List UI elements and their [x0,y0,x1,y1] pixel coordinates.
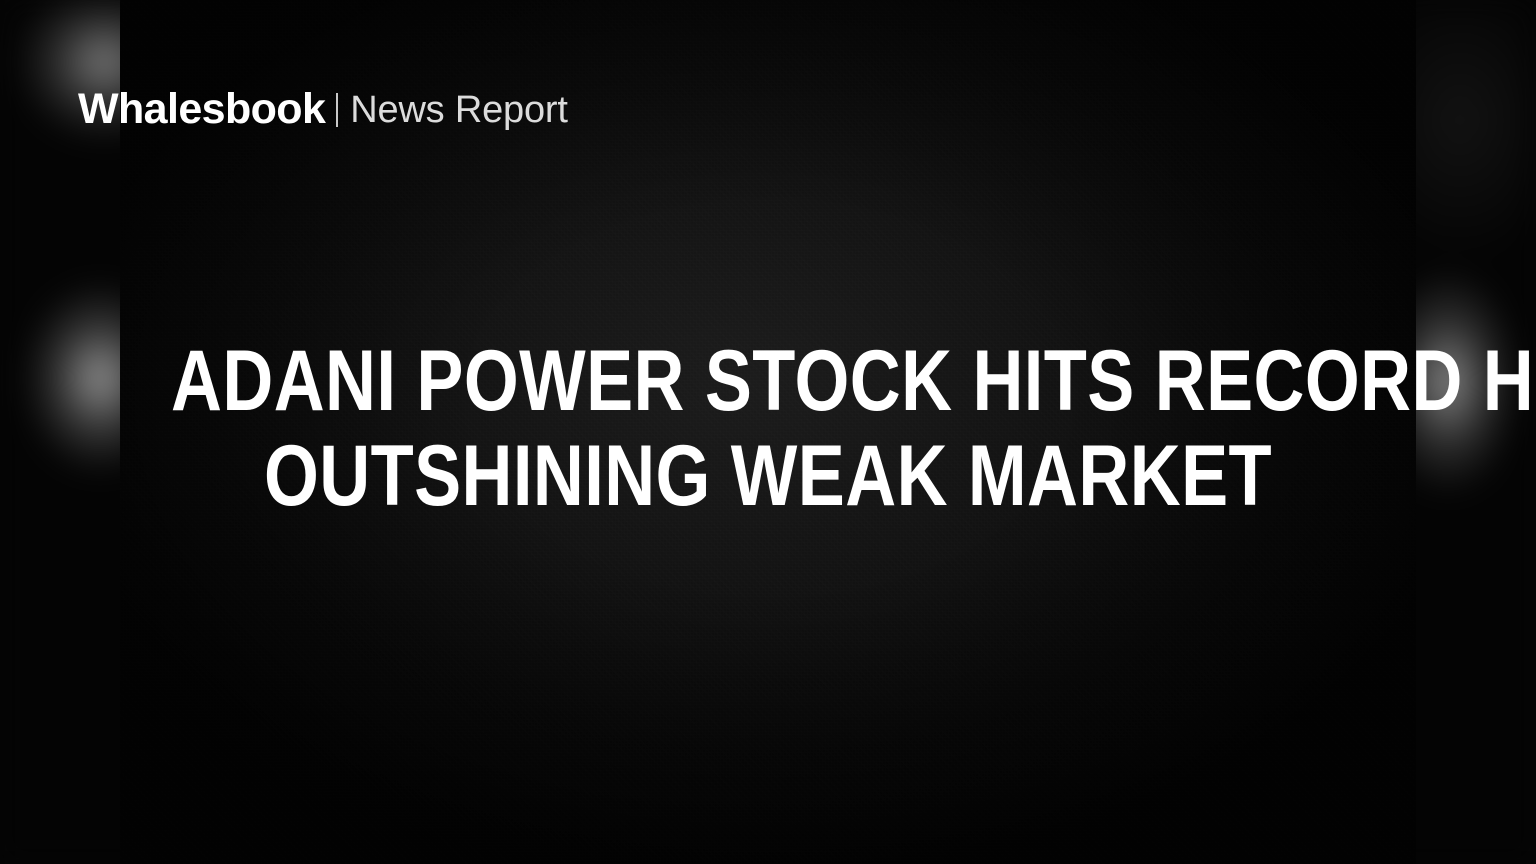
brand-name: Whalesbook [78,88,325,131]
headline: ADANI POWER STOCK HITS RECORD HIGHS, OUT… [0,334,1536,524]
headline-line-2: OUTSHINING WEAK MARKET [171,429,1365,524]
brand-logo: Whalesbook News Report [78,88,568,131]
logo-divider [336,93,338,127]
news-card: Whalesbook News Report ADANI POWER STOCK… [0,0,1536,864]
brand-section-label: News Report [350,91,567,129]
headline-line-1: ADANI POWER STOCK HITS RECORD HIGHS, [171,334,1365,429]
